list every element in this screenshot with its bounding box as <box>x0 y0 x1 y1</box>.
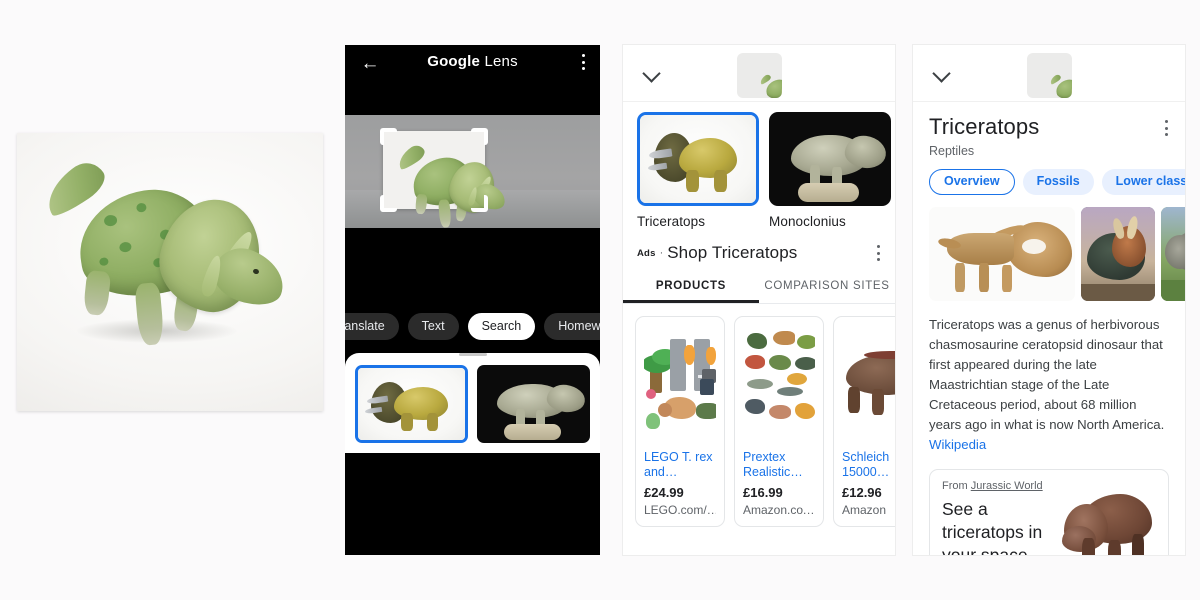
lego-flame <box>706 347 716 365</box>
triceratops-toy-photo <box>17 133 323 411</box>
tab-products[interactable]: PRODUCTS <box>623 273 759 303</box>
detected-object-area <box>383 131 485 209</box>
kebab-dot <box>1165 120 1168 123</box>
wikipedia-link[interactable]: Wikipedia <box>929 437 986 452</box>
toy-spot <box>99 257 109 266</box>
product-card-schleich[interactable]: Schleich 15000… £12.96 Amazon <box>833 316 895 527</box>
lens-mode-homework[interactable]: Homework <box>544 313 600 340</box>
lens-viewfinder[interactable] <box>345 115 600 228</box>
image-triceratops-illustration[interactable] <box>1081 207 1155 301</box>
lego-wall <box>670 339 686 391</box>
knowledge-title-row: Triceratops <box>913 102 1185 140</box>
lens-mode-text[interactable]: Text <box>408 313 459 340</box>
product-source: LEGO.com/… <box>644 503 716 517</box>
shop-header: Ads · Shop Triceratops <box>623 229 895 263</box>
product-card-prextex[interactable]: Prextex Realistic… £16.99 Amazon.co.… <box>734 316 824 527</box>
toy-thumbnail <box>358 368 465 440</box>
drag-handle-icon[interactable] <box>459 353 487 356</box>
source-name[interactable]: Jurassic World <box>971 480 1043 492</box>
triceratops-3d-model <box>1062 488 1166 555</box>
kebab-dot <box>1165 127 1168 130</box>
ar-card-headline: See a triceratops in your space <box>942 498 1060 555</box>
match-card-monoclonius[interactable]: Monoclonius <box>769 112 891 229</box>
lens-result-monoclonius[interactable] <box>477 365 590 443</box>
lens-mode-search[interactable]: Search <box>468 313 536 340</box>
figure-leg <box>872 389 884 415</box>
match-image <box>637 112 759 206</box>
kebab-menu-icon[interactable] <box>877 245 881 265</box>
toy-leg <box>83 270 111 316</box>
source-photo <box>17 133 323 411</box>
leg-bone <box>979 263 989 291</box>
chip-fossils[interactable]: Fossils <box>1023 169 1094 195</box>
lens-results-screen: Triceratops Monoclonius Ads · Shop Tr <box>623 45 895 555</box>
chip-overview[interactable]: Overview <box>929 169 1015 195</box>
shop-title: Shop Triceratops <box>667 243 797 263</box>
lego-minifig-body <box>700 379 714 395</box>
frill <box>1165 235 1185 269</box>
reticle-corner <box>471 195 488 212</box>
figure <box>773 331 795 345</box>
fossil-base <box>504 424 560 440</box>
toy-thumbnail <box>640 115 756 203</box>
eye-socket <box>1022 239 1045 254</box>
product-source: Amazon <box>842 503 895 517</box>
from-prefix: From <box>942 480 971 492</box>
knowledge-panel-screen: Triceratops Reptiles Overview Fossils Lo… <box>913 45 1185 555</box>
figure <box>795 403 815 419</box>
product-name[interactable]: Prextex Realistic… <box>743 450 815 480</box>
query-toy <box>1045 69 1053 77</box>
lens-mode-translate[interactable]: Translate <box>345 313 399 340</box>
model-leg <box>1132 534 1144 555</box>
image-triceratops-skeleton[interactable] <box>929 207 1075 301</box>
knowledge-description: Triceratops was a genus of herbivorous c… <box>913 301 1185 455</box>
figure <box>769 405 791 419</box>
leg-bone <box>955 263 965 291</box>
figure <box>747 379 773 389</box>
ads-badge: Ads <box>637 248 656 259</box>
screenshot-stage: ← Google Lens <box>0 0 1200 600</box>
query-image-thumbnail[interactable] <box>1027 53 1072 98</box>
lens-result-thumbs <box>355 365 590 443</box>
figure <box>745 399 765 414</box>
kebab-dot <box>877 258 880 261</box>
kebab-menu-icon[interactable] <box>1165 120 1169 140</box>
lego-vehicle <box>696 403 716 419</box>
reticle-corner <box>471 128 488 145</box>
query-toy <box>755 69 763 77</box>
toy-spot <box>118 241 131 253</box>
product-name[interactable]: LEGO T. rex and… <box>644 450 716 480</box>
fossil-thumbnail <box>769 112 891 206</box>
model-leg <box>1082 538 1095 555</box>
reticle-corner <box>380 195 397 212</box>
lens-title-light: Lens <box>480 53 518 70</box>
toy-leg <box>686 170 699 193</box>
chevron-down-icon[interactable] <box>932 64 950 82</box>
fossil-thumbnail <box>477 365 590 443</box>
fossil-base <box>798 183 859 202</box>
product-name[interactable]: Schleich 15000… <box>842 450 895 480</box>
visual-matches: Triceratops Monoclonius <box>623 102 895 229</box>
figure <box>745 355 765 369</box>
kebab-dot <box>877 245 880 248</box>
lens-letterbox-top <box>345 83 600 115</box>
figure <box>747 333 767 349</box>
figure <box>795 357 815 370</box>
product-carousel[interactable]: LEGO T. rex and… £24.99 LEGO.com/… <box>623 304 895 527</box>
figure <box>769 355 791 370</box>
model-leg <box>1108 540 1121 555</box>
knowledge-header <box>913 45 1185 102</box>
kebab-dot <box>582 61 585 64</box>
product-image <box>842 325 895 443</box>
reticle-corner <box>380 128 397 145</box>
knowledge-image-strip <box>913 195 1185 301</box>
toy-leg <box>415 194 428 215</box>
lens-result-triceratops[interactable] <box>355 365 468 443</box>
figure-leg <box>848 387 860 413</box>
knowledge-chips: Overview Fossils Lower classificatio <box>913 158 1185 195</box>
ar-promo-card[interactable]: From Jurassic World See a triceratops in… <box>929 469 1169 555</box>
match-image <box>769 112 891 206</box>
product-price: £16.99 <box>743 485 815 500</box>
query-image-thumbnail[interactable] <box>737 53 782 98</box>
page-title: Triceratops <box>929 114 1039 140</box>
lego-dino-head <box>658 403 672 417</box>
knowledge-subtitle: Reptiles <box>913 140 1185 158</box>
lens-title: Google Lens <box>345 53 600 70</box>
lens-app-bar: ← Google Lens <box>345 45 600 83</box>
google-lens-screen: ← Google Lens <box>345 45 600 555</box>
tab-comparison-sites[interactable]: COMPARISON SITES <box>759 273 895 303</box>
lens-mode-bar[interactable]: Translate Text Search Homework Sh <box>345 306 600 346</box>
product-card-lego[interactable]: LEGO T. rex and… £24.99 LEGO.com/… <box>635 316 725 527</box>
toy-spot <box>103 214 118 227</box>
figure <box>797 335 815 349</box>
focus-reticle-icon[interactable] <box>383 131 485 209</box>
toy-leg <box>427 413 439 432</box>
product-price: £12.96 <box>842 485 895 500</box>
toy-spot <box>136 203 147 213</box>
kebab-dot <box>877 252 880 255</box>
image-triceratops-illustration-2[interactable] <box>1161 207 1185 301</box>
match-label-monoclonius: Monoclonius <box>769 214 891 229</box>
product-image <box>743 325 815 443</box>
toy-leg <box>401 413 413 432</box>
description-text: Triceratops was a genus of herbivorous c… <box>929 317 1164 432</box>
kebab-dot <box>582 54 585 57</box>
figure <box>777 387 803 396</box>
product-price: £24.99 <box>644 485 716 500</box>
lego-baby-dino <box>646 413 660 429</box>
match-card-triceratops[interactable]: Triceratops <box>637 112 759 229</box>
lego-flame <box>684 345 695 365</box>
product-image <box>644 325 716 443</box>
toy-leg <box>714 170 727 193</box>
results-header <box>623 45 895 102</box>
grass <box>1161 280 1185 301</box>
product-source: Amazon.co.… <box>743 503 815 517</box>
kebab-menu-icon[interactable] <box>582 54 586 74</box>
kebab-dot <box>1165 133 1168 136</box>
ribcage <box>947 233 1014 265</box>
lens-title-bold: Google <box>427 53 480 70</box>
separator: · <box>660 247 664 259</box>
lens-letterbox-bottom <box>345 228 600 306</box>
ground <box>1081 284 1155 301</box>
chevron-down-icon[interactable] <box>642 64 660 82</box>
figure <box>787 373 807 385</box>
lens-results-sheet <box>345 353 600 453</box>
lego-flower <box>646 389 656 399</box>
shop-tabs: PRODUCTS COMPARISON SITES <box>623 273 895 304</box>
match-label-triceratops: Triceratops <box>637 214 759 229</box>
chip-lower-classification[interactable]: Lower classificatio <box>1102 169 1185 195</box>
kebab-dot <box>582 67 585 70</box>
leg-bone <box>1002 265 1012 291</box>
